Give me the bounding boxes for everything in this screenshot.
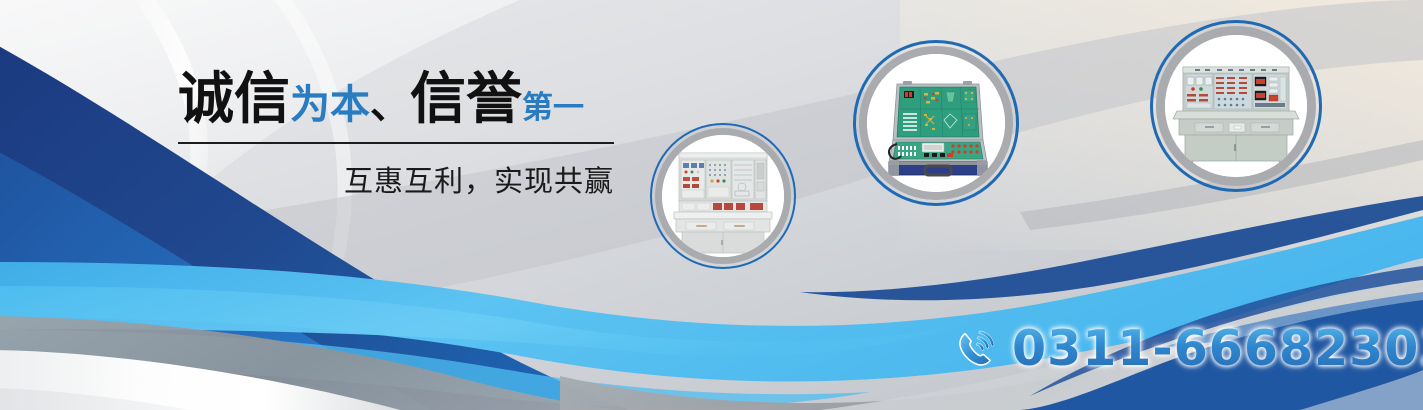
headline-part-3: 信誉: [410, 67, 522, 132]
headline-block: 诚信为本、信誉第一 互惠互利，实现共赢: [178, 72, 614, 200]
circle-inner-ring: [1156, 26, 1316, 186]
headline-subtitle: 互惠互利，实现共赢: [178, 158, 614, 200]
product-circle-training-case[interactable]: [853, 40, 1019, 206]
phone-call-icon: [952, 326, 998, 372]
product-image-workbench-1: [662, 135, 784, 257]
page-title: 诚信为本、信誉第一: [178, 72, 614, 128]
product-image-training-case: [867, 54, 1005, 192]
product-circle-workbench-1[interactable]: [650, 123, 796, 269]
headline-part-2: 为本: [290, 82, 370, 128]
promo-banner: 诚信为本、信誉第一 互惠互利，实现共赢: [0, 0, 1423, 410]
headline-comma: 、: [370, 82, 410, 128]
headline-part-1: 诚信: [178, 67, 290, 132]
headline-divider: [178, 142, 614, 144]
headline-part-4: 第一: [522, 90, 584, 126]
product-image-workbench-2: [1165, 35, 1307, 177]
circle-inner-ring: [655, 128, 791, 264]
contact-block[interactable]: 0311-66682303: [952, 324, 1423, 373]
phone-number[interactable]: 0311-66682303: [1012, 324, 1423, 373]
product-circle-workbench-2[interactable]: [1150, 20, 1322, 192]
circle-inner-ring: [859, 46, 1013, 200]
